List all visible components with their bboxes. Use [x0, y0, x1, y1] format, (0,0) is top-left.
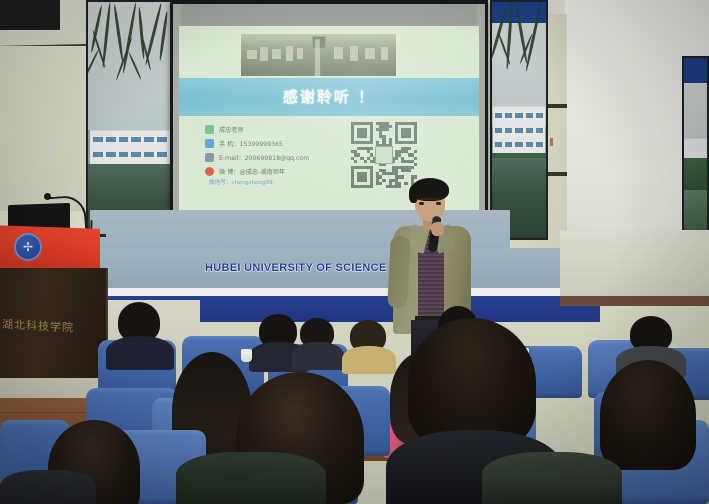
contact-row: 手 机：15399999365: [205, 138, 355, 149]
slide-weixin-line: 微信号：chengzhong99: [209, 178, 273, 186]
mail-icon: [205, 153, 214, 162]
campus-photo-poster-right-edge: [682, 56, 709, 238]
presenter-brow: [420, 198, 440, 200]
presenter-left-arm: [387, 236, 411, 309]
slide-heading: 感谢聆听 ！: [179, 86, 479, 107]
lecture-hall-scene: 感谢聆听 ！ 成忠老师 手 机：15399999365 E-mail：20069…: [0, 0, 709, 504]
phone-icon: [205, 139, 214, 148]
person-icon: [205, 125, 214, 134]
contact-text: 成忠老师: [219, 125, 244, 134]
contact-row: 微 博：@成忠-湖南师年: [205, 166, 355, 177]
ceiling-dark-patch: [0, 0, 60, 30]
contact-row: E-mail：200699818@qq.com: [205, 152, 355, 163]
weibo-icon: [205, 167, 214, 176]
contact-text: 手 机：15399999365: [219, 139, 283, 148]
qr-center-logo: [375, 146, 393, 164]
slide-aerial-photo: [241, 34, 396, 76]
contact-row: 成忠老师: [205, 124, 355, 135]
slide-contact-list: 成忠老师 手 机：15399999365 E-mail：200699818@qq…: [205, 124, 355, 180]
contact-text: E-mail：200699818@qq.com: [219, 153, 309, 162]
white-paper-cup: [241, 349, 252, 362]
stage-right-wall-trim: [560, 296, 709, 306]
campus-photo-poster-center-right: [490, 0, 548, 240]
university-emblem: ✢: [14, 233, 42, 261]
stage-right-wall: [560, 230, 709, 300]
contact-text: 微 博：@成忠-湖南师年: [219, 167, 285, 176]
presenter-eyes: [419, 202, 441, 205]
pillar-red-mark: [550, 138, 553, 146]
emblem-bird-icon: ✢: [21, 240, 35, 254]
microphone-head-icon: [44, 193, 51, 200]
